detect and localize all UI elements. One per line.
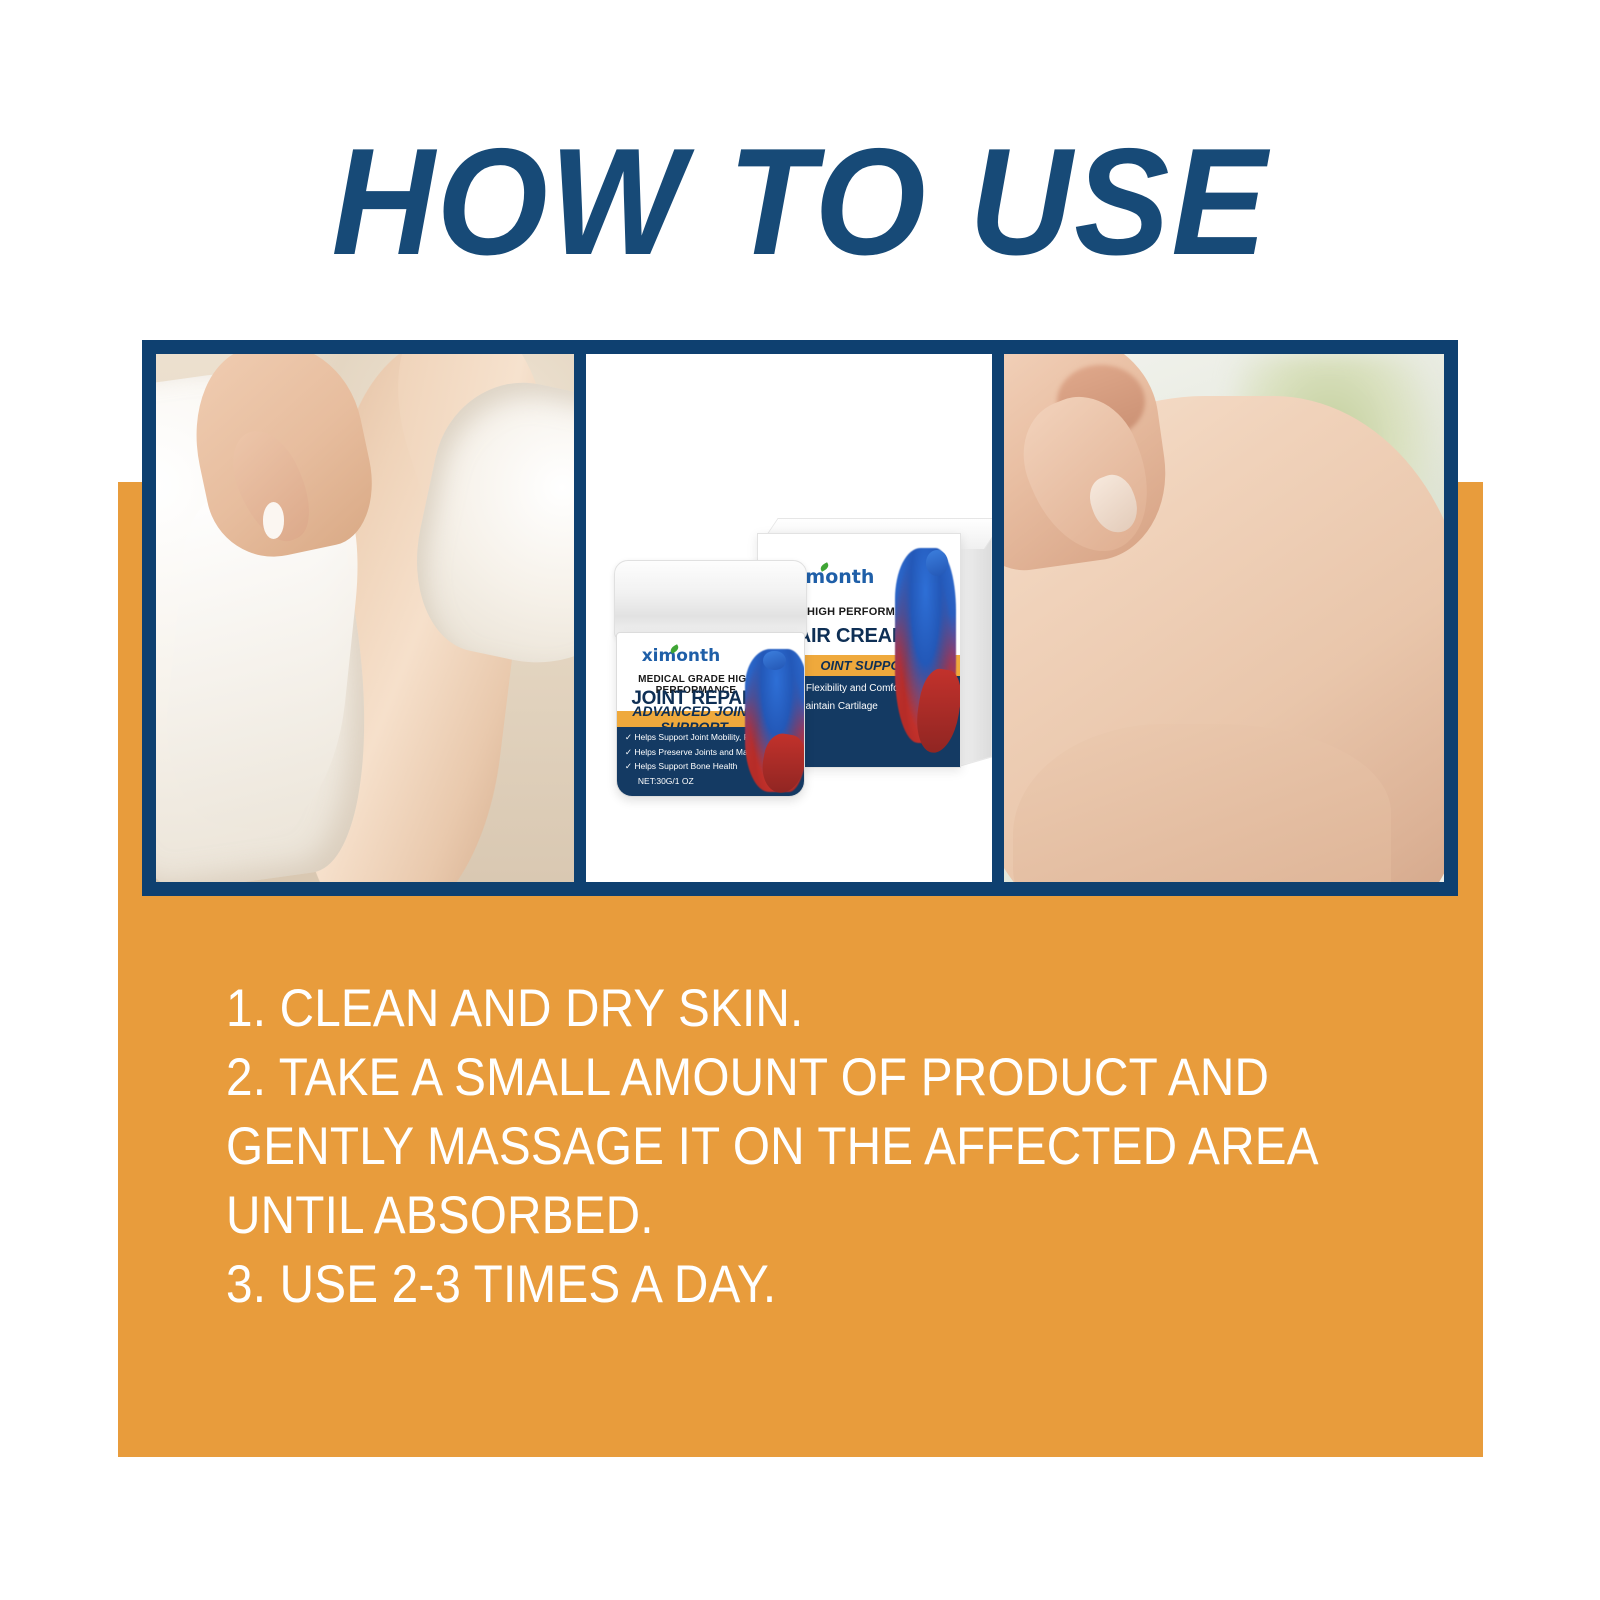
check-icon: ✓: [625, 747, 632, 757]
check-icon: ✓: [625, 732, 632, 742]
knee-scene-background: [1004, 354, 1444, 882]
jar-body: ximonth MEDICAL GRADE HIGH PERFORMANCE J…: [616, 632, 805, 797]
page-title: HOW TO USE: [48, 126, 1552, 278]
runner-head: [763, 651, 785, 671]
lower-leg-shape: [1013, 724, 1391, 882]
check-icon: ✓: [625, 761, 632, 771]
instructions-list: 1. CLEAN AND DRY SKIN. 2. TAKE A SMALL A…: [226, 975, 1234, 1319]
benefit-bullet-3: ✓ Helps Support Bone Health: [625, 761, 738, 772]
clean-dry-skin-photo: [156, 354, 574, 882]
jar-lid: [614, 560, 807, 639]
instruction-line-1: 1. CLEAN AND DRY SKIN.: [226, 975, 1234, 1044]
fingernail-shape: [263, 502, 285, 539]
product-photo: ximonth HIGH PERFORMANCE PAIR CREAM OINT…: [586, 354, 992, 882]
product-scene-background: ximonth HIGH PERFORMANCE PAIR CREAM OINT…: [586, 354, 992, 882]
net-weight-text: NET:30G/1 OZ: [638, 776, 694, 786]
instruction-line-5: 3. USE 2-3 TIMES A DAY.: [226, 1251, 1234, 1320]
runner-head: [926, 550, 948, 576]
instruction-line-2: 2. TAKE A SMALL AMOUNT OF PRODUCT AND: [226, 1044, 1234, 1113]
product-jar: ximonth MEDICAL GRADE HIGH PERFORMANCE J…: [614, 560, 805, 792]
instruction-line-4: UNTIL ABSORBED.: [226, 1182, 1234, 1251]
apply-to-knee-photo: [1004, 354, 1444, 882]
towel-scene-background: [156, 354, 574, 882]
photo-gallery-frame: ximonth HIGH PERFORMANCE PAIR CREAM OINT…: [142, 340, 1458, 896]
instruction-line-3: GENTLY MASSAGE IT ON THE AFFECTED AREA: [226, 1113, 1234, 1182]
jar-label: ximonth MEDICAL GRADE HIGH PERFORMANCE J…: [617, 633, 804, 796]
